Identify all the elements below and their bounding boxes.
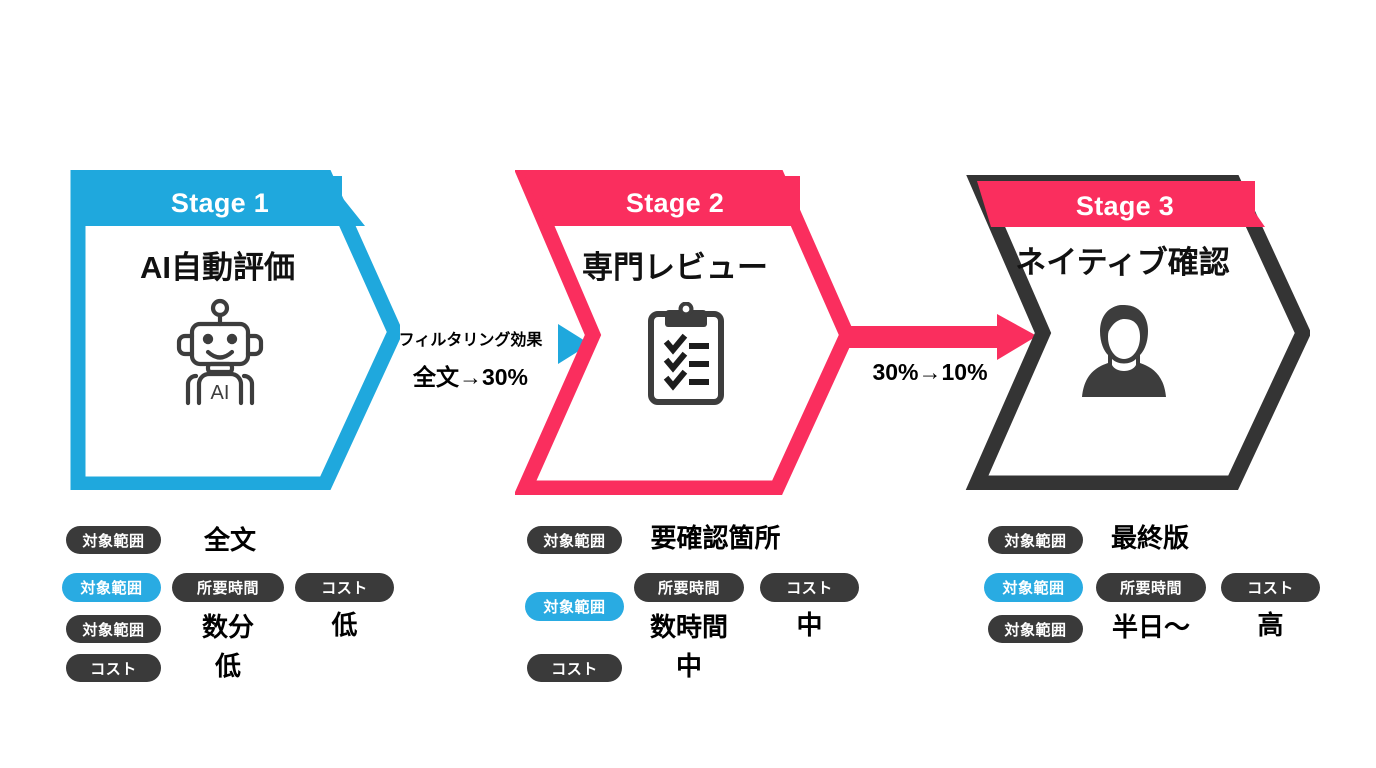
stage-2-pill-duration[interactable]: 所要時間 xyxy=(634,573,744,602)
stage-2-scope-value: 要確認箇所 xyxy=(633,525,798,551)
stage-1-pill-cost[interactable]: コスト xyxy=(295,573,394,602)
stage-3-cost-value: 高 xyxy=(1221,612,1320,638)
stage-1-title: AI自動評価 xyxy=(70,252,365,283)
stage-3-scope-value: 最終版 xyxy=(1095,525,1205,551)
stage-1-header-label: Stage 1 xyxy=(70,190,370,217)
stage-3-pill-duration[interactable]: 所要時間 xyxy=(1096,573,1206,602)
stage-2-cost-value: 中 xyxy=(760,612,859,638)
stage-1-scope-value: 全文 xyxy=(175,527,285,553)
stage-1-block[interactable]: Stage 1 AI自動評価 AI xyxy=(70,170,400,490)
stage-2-title: 専門レビュー xyxy=(525,252,825,283)
diagram-canvas: Stage 1 AI自動評価 AI xyxy=(0,0,1376,768)
stage-3-block[interactable]: Stage 3 ネイティブ確認 xyxy=(965,175,1310,490)
stage-2-pill-scope-1[interactable]: 対象範囲 xyxy=(527,526,622,554)
stage-1-pill-duration[interactable]: 所要時間 xyxy=(172,573,284,602)
stage-2-block[interactable]: Stage 2 専門レビュー xyxy=(515,170,855,495)
stage-3-pill-cost[interactable]: コスト xyxy=(1221,573,1320,602)
stage-1-pill-scope-2[interactable]: 対象範囲 xyxy=(62,573,161,602)
stage-2-pill-scope-2[interactable]: 対象範囲 xyxy=(525,592,624,621)
stage-3-pill-scope-1[interactable]: 対象範囲 xyxy=(988,526,1083,554)
stage-3-pill-scope-2[interactable]: 対象範囲 xyxy=(984,573,1083,602)
stage-2-cost-value-2: 中 xyxy=(633,653,745,679)
stage-1-pill-cost-2[interactable]: コスト xyxy=(66,654,161,682)
stage-3-duration-value: 半日〜 xyxy=(1095,614,1207,640)
stage-2-duration-value: 数時間 xyxy=(633,614,745,640)
stage-1-cost-value: 低 xyxy=(295,612,394,638)
svg-text:AI: AI xyxy=(211,382,230,404)
stage-2-header-label: Stage 2 xyxy=(525,190,825,217)
stage-3-pill-scope-3[interactable]: 対象範囲 xyxy=(988,615,1083,643)
person-avatar-icon xyxy=(1078,303,1170,401)
stage-2-pill-cost[interactable]: コスト xyxy=(760,573,859,602)
stage-1-pill-scope-3[interactable]: 対象範囲 xyxy=(66,615,161,643)
stage-2-pill-cost-2[interactable]: コスト xyxy=(527,654,622,682)
stage-1-duration-value: 数分 xyxy=(172,614,284,640)
clipboard-checklist-icon xyxy=(643,302,729,406)
stage-3-header-label: Stage 3 xyxy=(975,193,1275,220)
robot-ai-icon: AI xyxy=(175,298,265,408)
stage-1-cost-value-2: 低 xyxy=(172,653,284,679)
stage-3-title: ネイティブ確認 xyxy=(970,247,1275,278)
stage-1-pill-scope-1[interactable]: 対象範囲 xyxy=(66,526,161,554)
